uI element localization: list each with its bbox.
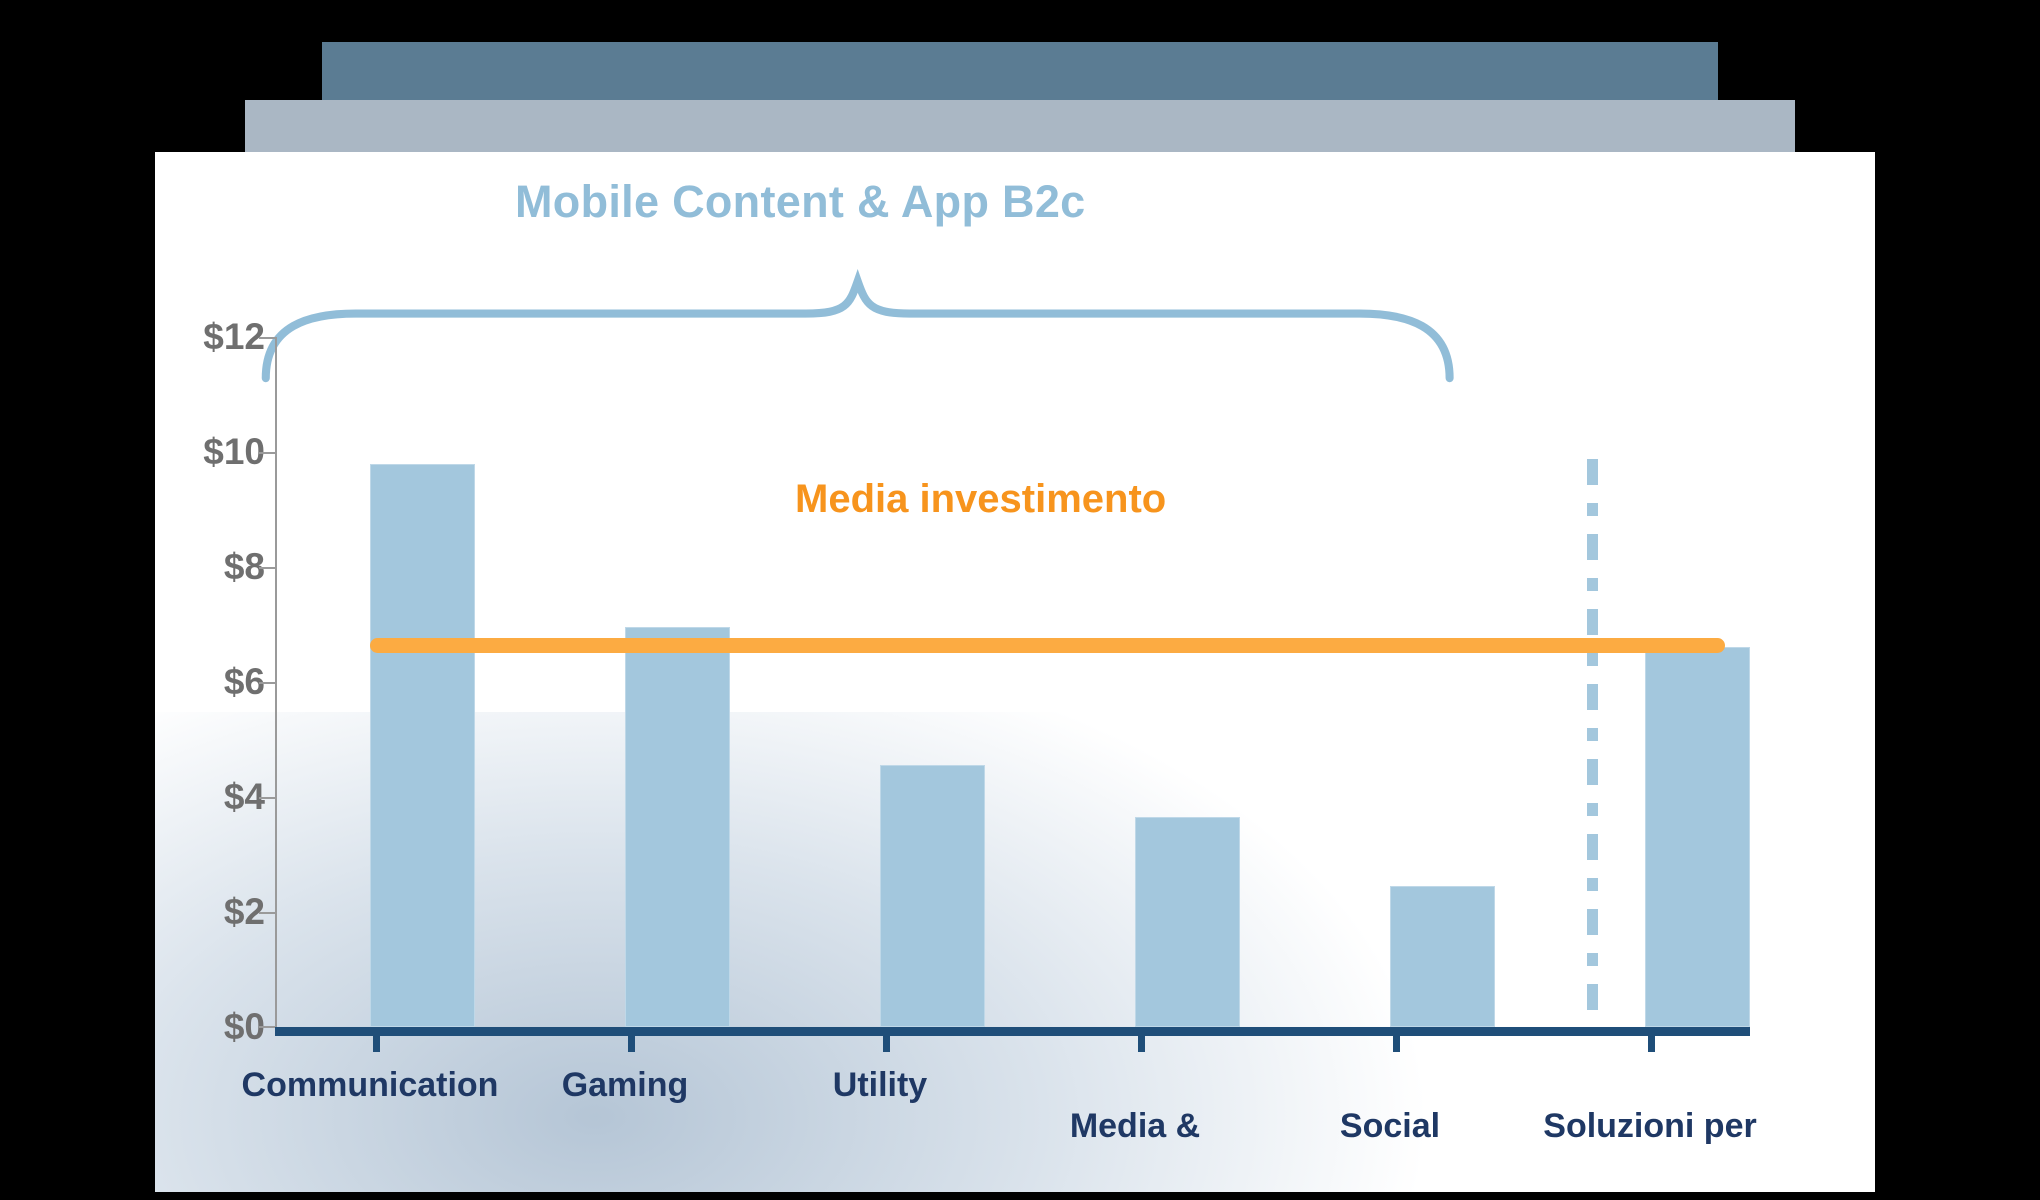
x-label-communication: Communication (230, 1065, 510, 1106)
x-label-media-entertainment-line1: Media & (995, 1106, 1275, 1147)
x-tick-0 (373, 1036, 380, 1052)
bar-social-networking[interactable] (1390, 886, 1495, 1027)
x-label-soluzioni-line1: Soluzioni per (1505, 1106, 1795, 1147)
chart-title: Mobile Content & App B2c (515, 176, 1086, 228)
decorative-plate-mid (245, 100, 1795, 152)
bar-gaming[interactable] (625, 627, 730, 1027)
x-label-social-networking-line1: Social (1250, 1106, 1530, 1147)
chart-card: Mobile Content & App B2c $12 $10 $8 $6 $… (155, 152, 1875, 1192)
bar-utility[interactable] (880, 765, 985, 1027)
x-label-utility: Utility (740, 1065, 1020, 1106)
bar-soluzioni-per-sviluppatori[interactable] (1645, 647, 1750, 1027)
y-tick-label-10: $10 (155, 431, 265, 473)
x-axis-line (275, 1027, 1750, 1036)
average-investment-line (370, 638, 1725, 653)
x-tick-4 (1393, 1036, 1400, 1052)
y-tick-label-4: $4 (155, 776, 265, 818)
y-tick-12 (259, 337, 275, 339)
y-tick-8 (259, 567, 275, 569)
y-tick-label-12: $12 (155, 316, 265, 358)
y-tick-4 (259, 797, 275, 799)
x-label-social-networking: Social Networking (1250, 1065, 1530, 1192)
y-tick-label-2: $2 (155, 891, 265, 933)
x-tick-5 (1648, 1036, 1655, 1052)
plot-area: Media investimento (275, 337, 1750, 1027)
chart-screenshot: Mobile Content & App B2c $12 $10 $8 $6 $… (0, 0, 2040, 1200)
y-tick-label-0: $0 (155, 1006, 265, 1048)
x-tick-2 (883, 1036, 890, 1052)
y-tick-0 (259, 1026, 275, 1028)
y-axis-line (275, 337, 277, 1027)
category-divider-dashdot (1587, 459, 1598, 1027)
x-tick-3 (1138, 1036, 1145, 1052)
y-tick-6 (259, 682, 275, 684)
x-tick-1 (628, 1036, 635, 1052)
bar-communication[interactable] (370, 464, 475, 1027)
decorative-plate-dark (322, 42, 1718, 100)
y-tick-10 (259, 452, 275, 454)
x-label-soluzioni-line2: sviluppatori (1505, 1189, 1795, 1192)
x-label-media-entertainment-line2: Entertainment (995, 1189, 1275, 1192)
average-investment-label: Media investimento (795, 477, 1166, 522)
x-label-soluzioni-per-sviluppatori: Soluzioni per sviluppatori (1505, 1065, 1795, 1192)
y-tick-2 (259, 912, 275, 914)
x-label-media-entertainment: Media & Entertainment (995, 1065, 1275, 1192)
x-label-social-networking-line2: Networking (1250, 1189, 1530, 1192)
bar-media-entertainment[interactable] (1135, 817, 1240, 1027)
y-tick-label-6: $6 (155, 661, 265, 703)
y-tick-label-8: $8 (155, 546, 265, 588)
x-label-gaming: Gaming (485, 1065, 765, 1106)
